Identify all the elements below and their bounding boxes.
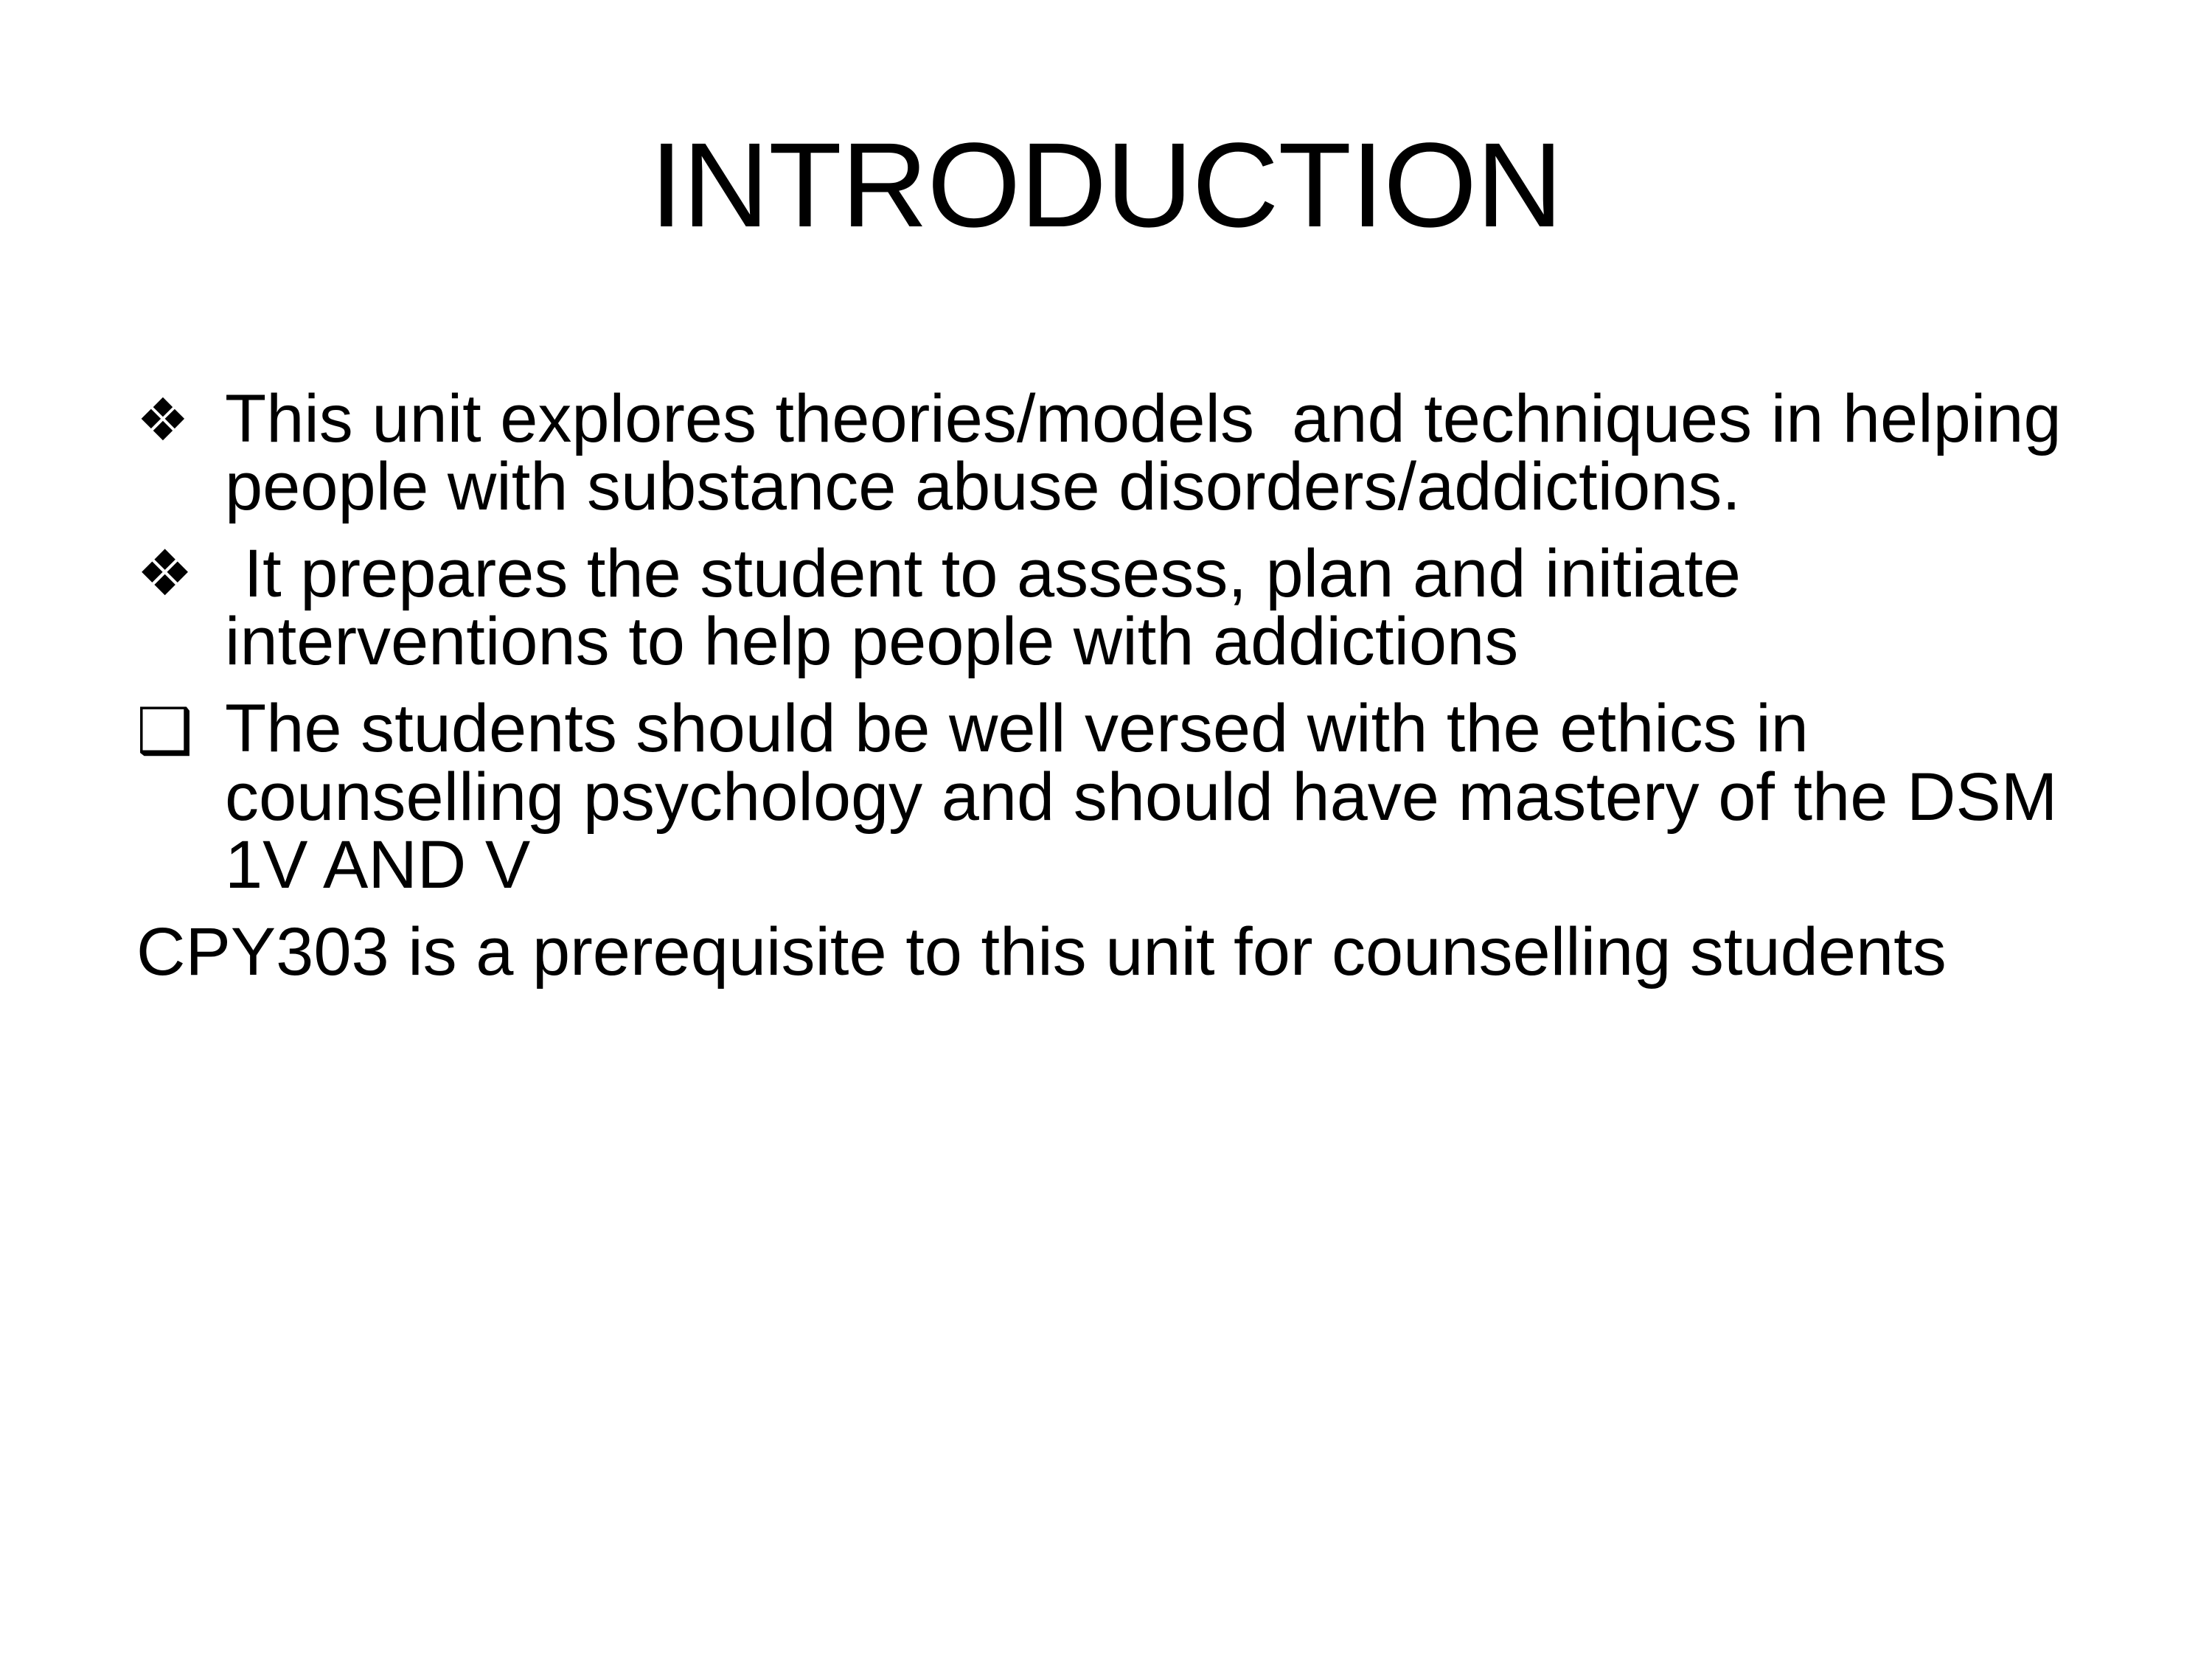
hollow-square-bullet-icon: ❑ (136, 700, 225, 763)
body-paragraph-text: CPY303 is a prerequisite to this unit fo… (136, 914, 1947, 990)
bullet-list-item: ❑The students should be well versed with… (136, 695, 2127, 899)
diamond-ornament-bullet-icon: ❖ (136, 542, 225, 605)
bullet-list-item: ❖This unit explores theories/models and … (136, 385, 2127, 521)
slide-body-placeholder: ❖This unit explores theories/models and … (136, 385, 2127, 986)
body-paragraph: CPY303 is a prerequisite to this unit fo… (136, 918, 2127, 986)
bullet-item-text: It prepares the student to assess, plan … (225, 536, 1760, 679)
bullet-item-text: The students should be well versed with … (225, 691, 2076, 902)
page-title: INTRODUCTION (111, 122, 2101, 248)
bullet-item-text: This unit explores theories/models and t… (225, 381, 2080, 524)
diamond-ornament-bullet-icon: ❖ (136, 391, 225, 450)
slide-canvas: INTRODUCTION ❖This unit explores theorie… (0, 0, 2212, 1659)
slide-title-placeholder: INTRODUCTION (111, 122, 2101, 248)
bullet-list-item: ❖ It prepares the student to assess, pla… (136, 540, 2127, 675)
